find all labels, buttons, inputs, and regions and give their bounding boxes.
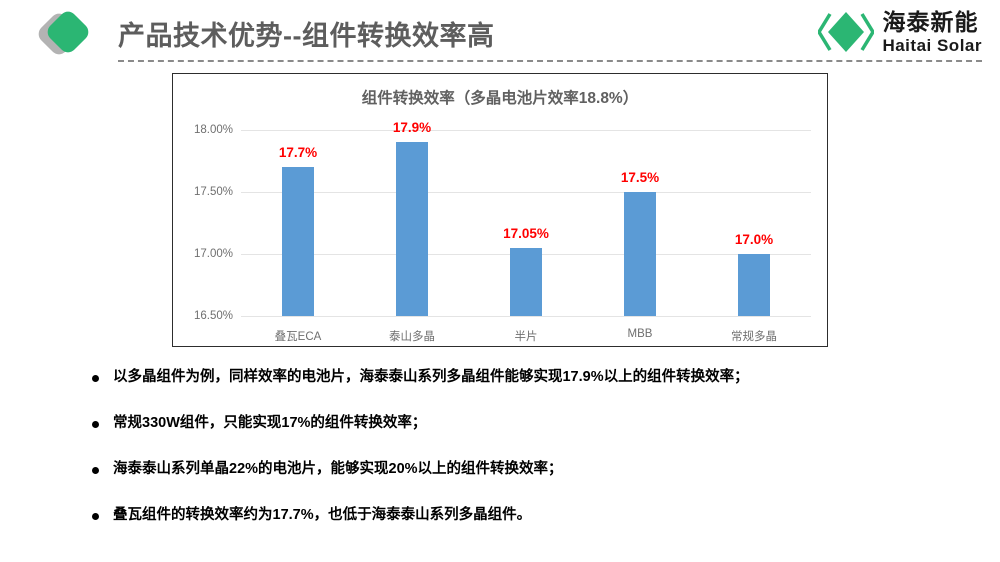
bar-value-label: 17.05% — [503, 226, 549, 241]
bullet-text: 叠瓦组件的转换效率约为17.7%，也低于海泰泰山系列多晶组件。 — [113, 506, 531, 524]
bar-group: 17.9%泰山多晶 — [355, 130, 469, 316]
brand-logo: 海泰新能 Haitai Solar — [818, 8, 982, 56]
x-axis-category-label: MBB — [628, 328, 653, 340]
bullet-text: 以多晶组件为例，同样效率的电池片，海泰泰山系列多晶组件能够实现17.9%以上的组… — [113, 368, 749, 386]
bullet-item: 常规330W组件，只能实现17%的组件转换效率； — [92, 414, 952, 432]
bullet-item: 叠瓦组件的转换效率约为17.7%，也低于海泰泰山系列多晶组件。 — [92, 506, 952, 524]
bar-value-label: 17.0% — [735, 232, 773, 247]
bullet-item: 海泰泰山系列单晶22%的电池片，能够实现20%以上的组件转换效率； — [92, 460, 952, 478]
brand-text: 海泰新能 Haitai Solar — [882, 11, 982, 54]
y-axis-tick-label: 17.50% — [194, 186, 233, 198]
chart-bar — [396, 142, 428, 316]
chart-bar — [624, 192, 656, 316]
slide-header: 产品技术优势--组件转换效率高 海泰新能 Haitai Solar — [0, 0, 1000, 66]
chart-bar — [738, 254, 770, 316]
gridline — [241, 316, 811, 317]
haitai-diamond-logo-icon — [818, 8, 874, 56]
green-diamond-icon — [42, 12, 90, 56]
chart-title: 组件转换效率（多晶电池片效率18.8%） — [173, 86, 827, 108]
x-axis-category-label: 叠瓦ECA — [275, 328, 322, 344]
y-axis-tick-label: 17.00% — [194, 248, 233, 260]
brand-name-cn: 海泰新能 — [882, 11, 982, 34]
bar-value-label: 17.9% — [393, 120, 431, 135]
brand-name-en: Haitai Solar — [882, 37, 982, 54]
dashed-divider — [118, 60, 982, 62]
chart-bar — [510, 248, 542, 316]
bullet-dot-icon — [92, 513, 99, 520]
bar-value-label: 17.5% — [621, 170, 659, 185]
bar-group: 17.0%常规多晶 — [697, 130, 811, 316]
bullet-item: 以多晶组件为例，同样效率的电池片，海泰泰山系列多晶组件能够实现17.9%以上的组… — [92, 368, 952, 386]
bullet-dot-icon — [92, 467, 99, 474]
bullet-dot-icon — [92, 421, 99, 428]
bar-group: 17.5%MBB — [583, 130, 697, 316]
page-title: 产品技术优势--组件转换效率高 — [118, 14, 494, 53]
y-axis-tick-label: 18.00% — [194, 124, 233, 136]
x-axis-category-label: 常规多晶 — [731, 328, 777, 344]
bullet-list: 以多晶组件为例，同样效率的电池片，海泰泰山系列多晶组件能够实现17.9%以上的组… — [92, 368, 952, 553]
bullet-text: 海泰泰山系列单晶22%的电池片，能够实现20%以上的组件转换效率； — [113, 460, 563, 478]
bullet-dot-icon — [92, 375, 99, 382]
chart-bar — [282, 167, 314, 316]
bar-group: 17.7%叠瓦ECA — [241, 130, 355, 316]
y-axis-tick-label: 16.50% — [194, 310, 233, 322]
x-axis-category-label: 半片 — [515, 328, 538, 344]
x-axis-category-label: 泰山多晶 — [389, 328, 435, 344]
bullet-text: 常规330W组件，只能实现17%的组件转换效率； — [113, 414, 426, 432]
bar-value-label: 17.7% — [279, 145, 317, 160]
bar-group: 17.05%半片 — [469, 130, 583, 316]
chart-container: 组件转换效率（多晶电池片效率18.8%） 18.00%17.50%17.00%1… — [172, 73, 828, 347]
chart-plot-area: 18.00%17.50%17.00%16.50%17.7%叠瓦ECA17.9%泰… — [241, 130, 811, 316]
